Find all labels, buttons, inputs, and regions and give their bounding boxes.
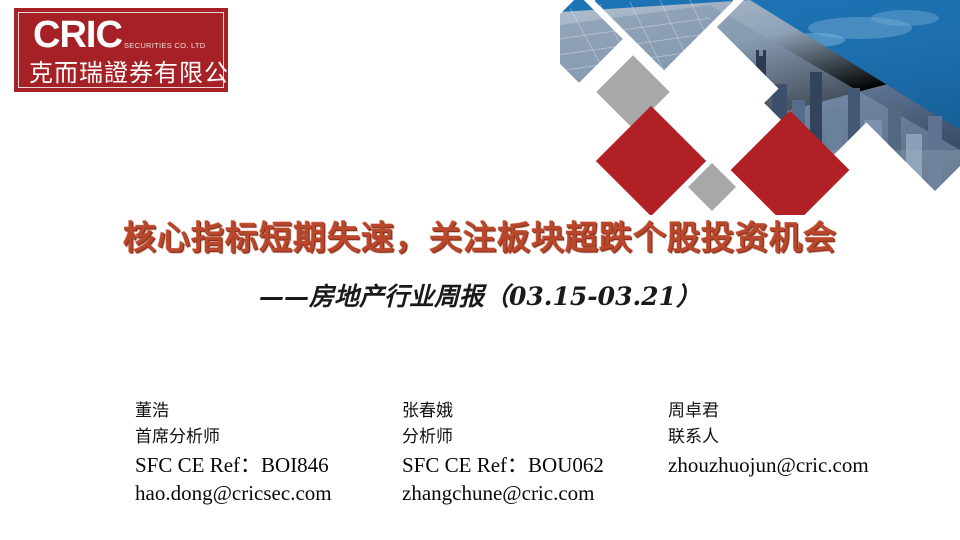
cric-logo: CRIC SECURITIES CO. LTD 克而瑞證券有限公司 [14,8,228,92]
contact-block-3: 周卓君 联系人 zhouzhuojun@cric.com [668,398,869,479]
slide-subtitle: ——房地产行业周报（03.15-03.21） [0,277,960,313]
slide-title: 核心指标短期失速，关注板块超跌个股投资机会 [0,211,960,259]
contact-email[interactable]: hao.dong@cricsec.com [135,479,332,507]
logo-border-frame: CRIC SECURITIES CO. LTD 克而瑞證券有限公司 [18,12,224,88]
logo-tagline: SECURITIES CO. LTD [124,41,206,50]
contact-sfc-ref: SFC CE Ref：BOU062 [402,451,604,479]
contact-email[interactable]: zhouzhuojun@cric.com [668,451,869,479]
contact-block-1: 董浩 首席分析师 SFC CE Ref：BOI846 hao.dong@cric… [135,398,332,507]
contact-name: 周卓君 [668,398,869,424]
contact-role: 分析师 [402,424,604,451]
logo-company-name-cn: 克而瑞證券有限公司 [29,53,254,88]
contact-role: 首席分析师 [135,424,332,451]
contact-email[interactable]: zhangchune@cric.com [402,479,604,507]
presentation-slide: CRIC SECURITIES CO. LTD 克而瑞證券有限公司 [0,0,960,540]
contact-name: 张春娥 [402,398,604,424]
logo-brand-text: CRIC [33,15,122,55]
decorative-diamond-mosaic [560,0,960,215]
contact-block-2: 张春娥 分析师 SFC CE Ref：BOU062 zhangchune@cri… [402,398,604,507]
contact-sfc-ref: SFC CE Ref：BOI846 [135,451,332,479]
contact-name: 董浩 [135,398,332,424]
contact-role: 联系人 [668,424,869,451]
